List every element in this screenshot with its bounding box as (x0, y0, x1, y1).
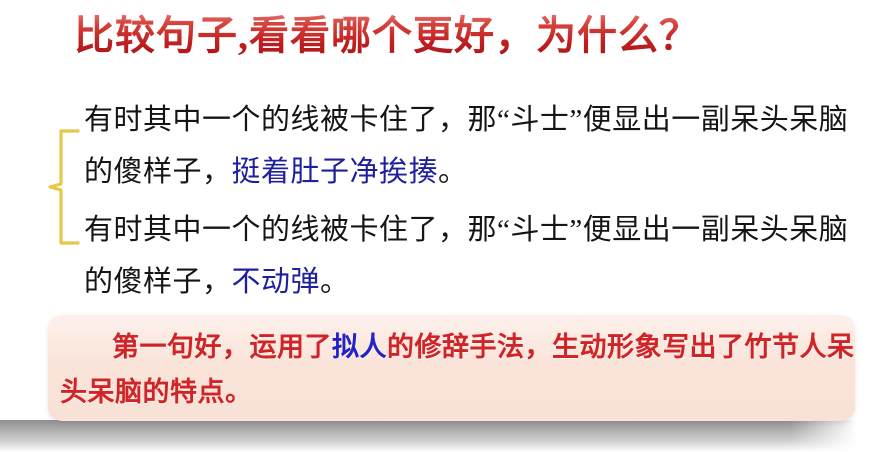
sentence-one-plain-after: 。 (438, 156, 468, 188)
answer-box-shadow (0, 420, 879, 452)
sentence-two: 有时其中一个的线被卡住了，那“斗士”便显出一副呆头呆脑的傻样子，不动弹。 (84, 204, 864, 308)
sentence-two-plain-after: 。 (320, 266, 350, 298)
answer-highlight: 拟人 (332, 332, 387, 362)
sentence-one: 有时其中一个的线被卡住了，那“斗士”便显出一副呆头呆脑的傻样子，挺着肚子净挨揍。 (84, 94, 864, 198)
answer-text: 第一句好，运用了拟人的修辞手法，生动形象写出了竹节人呆头呆脑的特点。 (60, 325, 855, 415)
answer-box-shadow-fade (790, 418, 879, 452)
page-title: 比较句子,看看哪个更好，为什么？ (74, 8, 834, 64)
slide-canvas: 比较句子,看看哪个更好，为什么？ 比较句子,看看哪个更好，为什么？ 有时其中一个… (0, 0, 879, 452)
sentence-two-highlight: 不动弹 (232, 266, 321, 298)
sentence-one-highlight: 挺着肚子净挨揍 (232, 156, 439, 188)
answer-part-one: 第一句好，运用了 (112, 332, 332, 362)
left-curly-brace-icon (48, 128, 82, 246)
sentence-two-plain-before: 有时其中一个的线被卡住了，那“斗士”便显出一副呆头呆脑的傻样子， (84, 214, 848, 298)
